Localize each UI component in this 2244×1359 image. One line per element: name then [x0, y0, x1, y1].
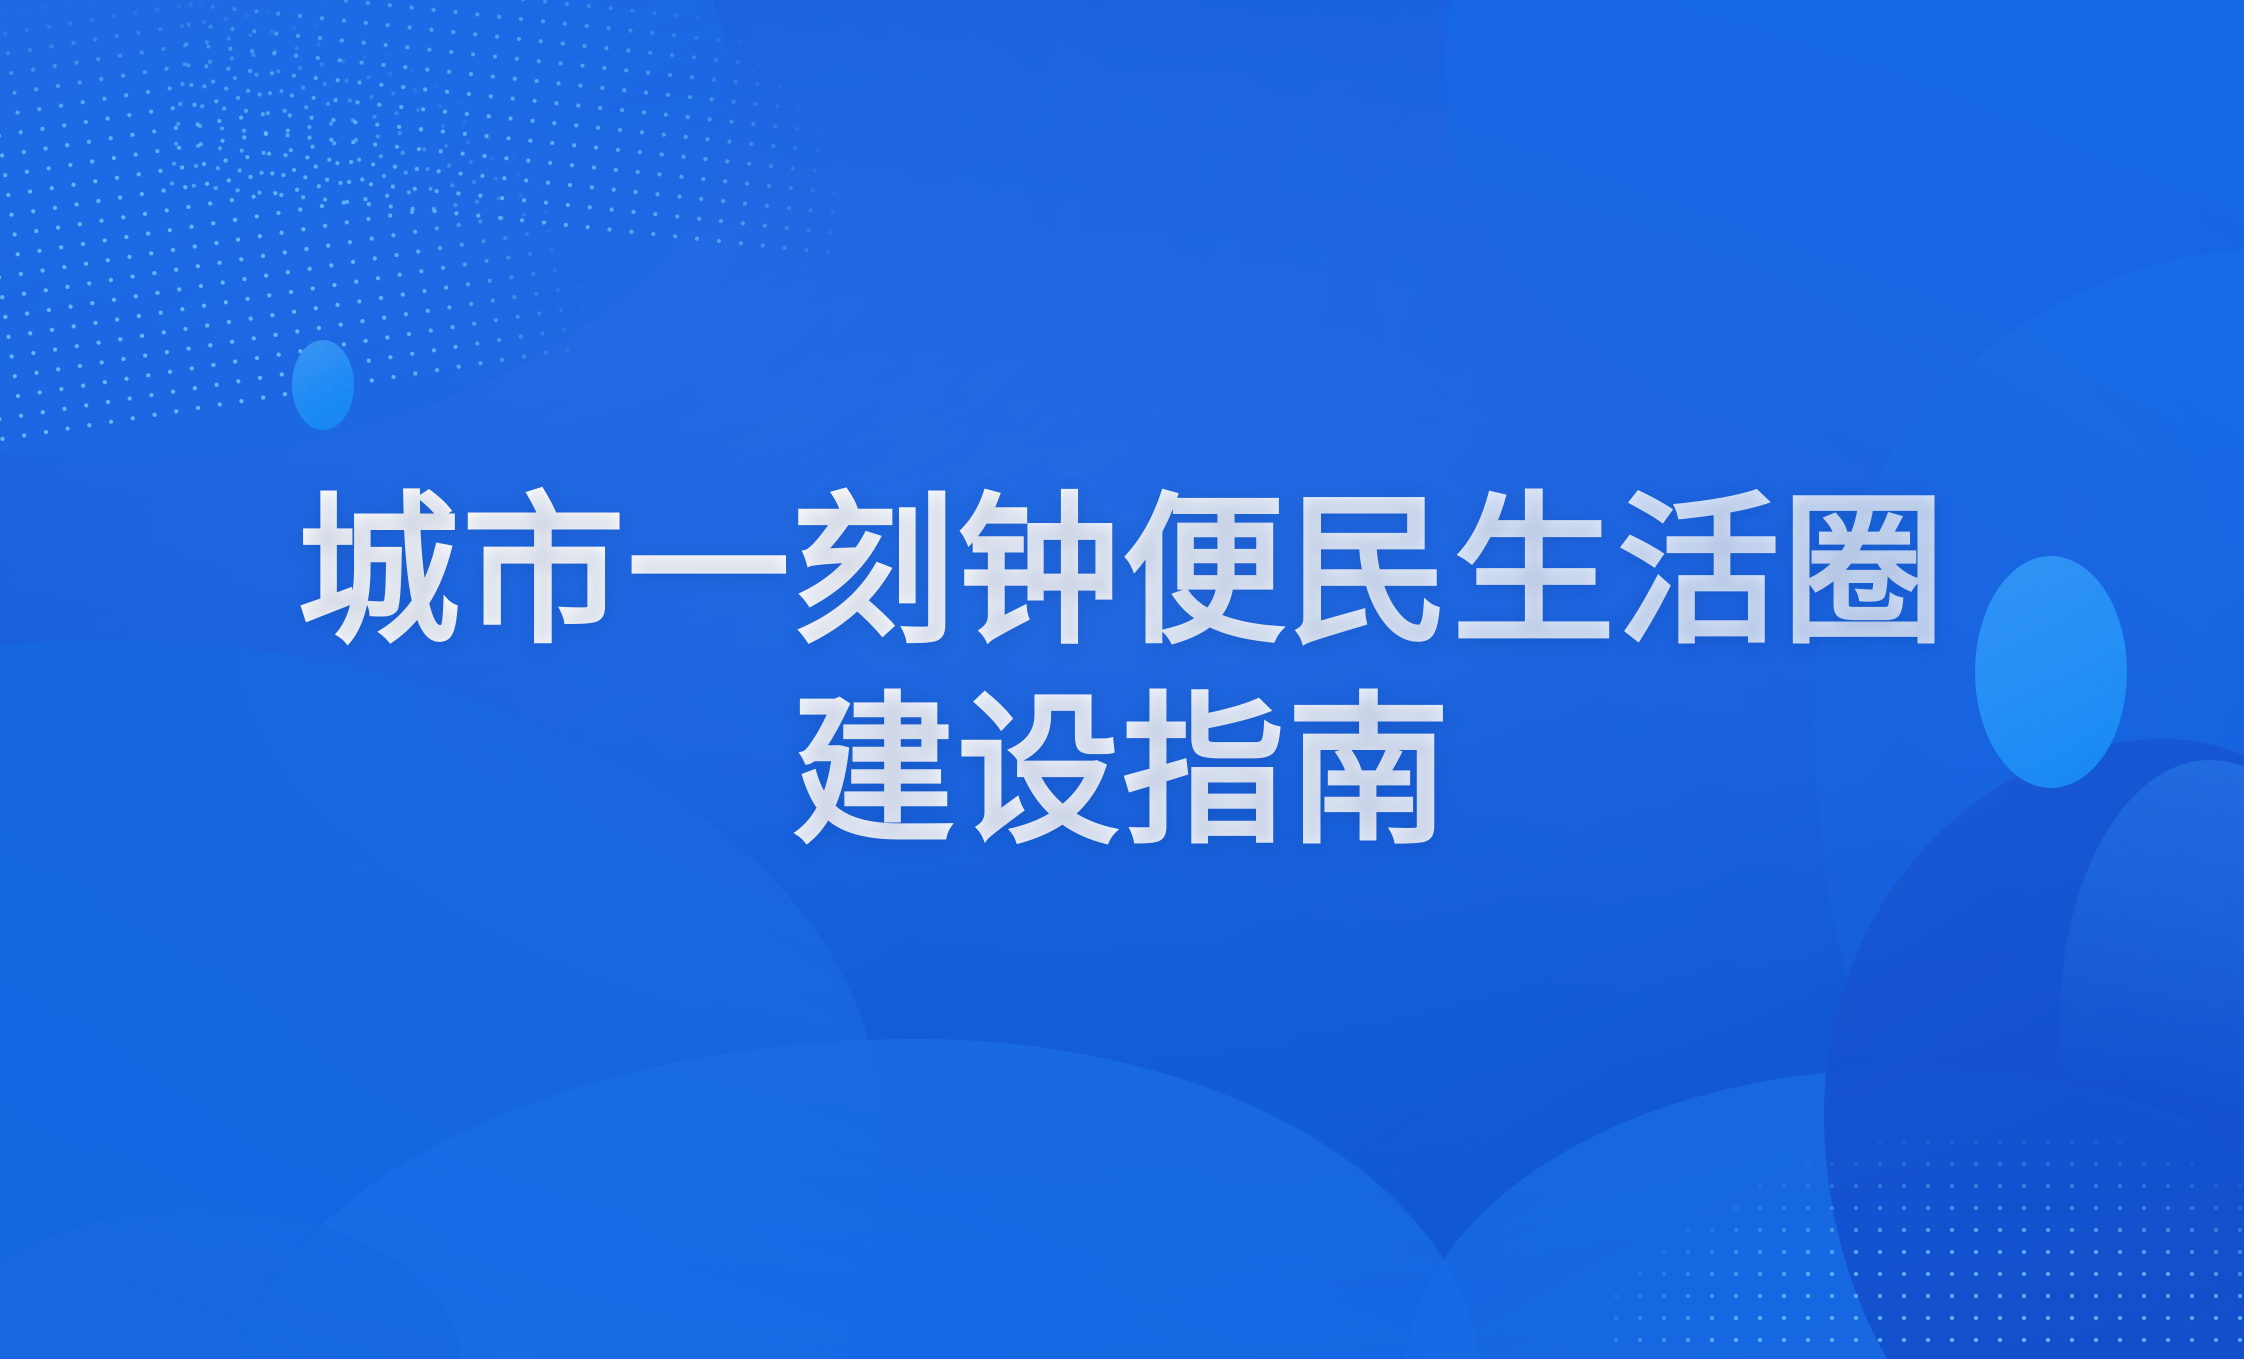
poster-title-line-1: 城市一刻钟便民生活圈	[0, 472, 2244, 672]
poster-banner: 城市一刻钟便民生活圈 建设指南	[0, 0, 2244, 1359]
accent-ellipse-left	[292, 340, 354, 430]
poster-title: 城市一刻钟便民生活圈 建设指南	[0, 472, 2244, 872]
poster-title-line-2: 建设指南	[0, 672, 2244, 872]
